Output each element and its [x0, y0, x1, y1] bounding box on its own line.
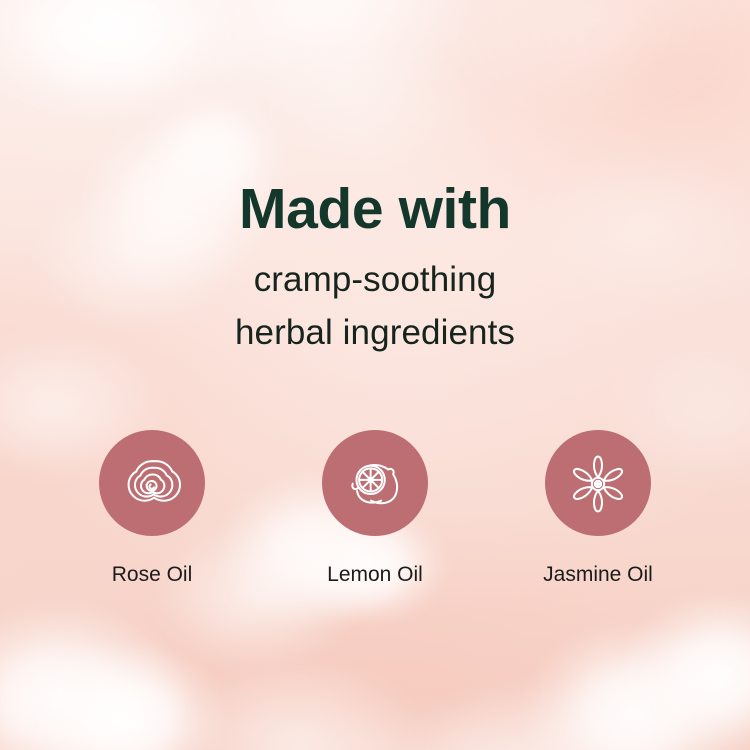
lemon-badge: [322, 430, 428, 536]
ingredient-item-rose: Rose Oil: [99, 430, 205, 587]
ingredient-label: Lemon Oil: [327, 563, 423, 587]
page-title: Made with: [0, 178, 750, 240]
heading-block: Made with cramp-soothing herbal ingredie…: [0, 178, 750, 359]
product-ingredient-graphic: Made with cramp-soothing herbal ingredie…: [0, 0, 750, 750]
lemon-icon: [344, 452, 406, 514]
ingredient-label: Rose Oil: [112, 563, 193, 587]
jasmine-badge: [545, 430, 651, 536]
jasmine-flower-icon: [567, 452, 629, 514]
rose-badge: [99, 430, 205, 536]
ingredient-label: Jasmine Oil: [543, 563, 653, 587]
ingredient-item-jasmine: Jasmine Oil: [545, 430, 651, 587]
ingredient-list: Rose Oil: [0, 430, 750, 587]
rose-icon: [121, 452, 183, 514]
subtitle-line-1: cramp-soothing: [0, 253, 750, 306]
subtitle-line-2: herbal ingredients: [0, 306, 750, 359]
center-haze: [0, 0, 750, 750]
ingredient-item-lemon: Lemon Oil: [322, 430, 428, 587]
